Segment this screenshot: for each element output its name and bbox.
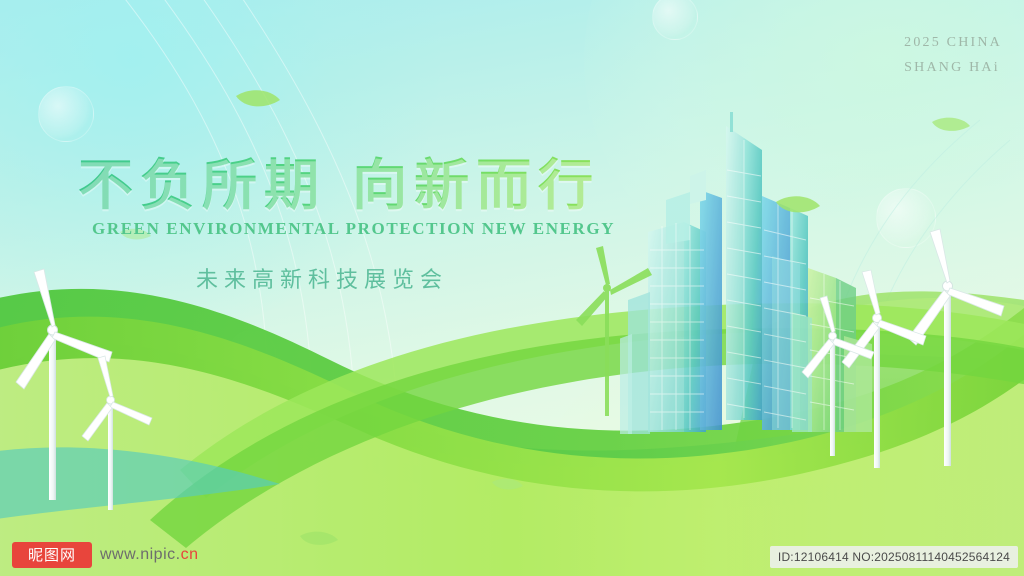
poster-canvas: 2025 CHINA SHANG HAi 不负所期 向新而行 GREEN ENV… — [0, 0, 1024, 576]
poster-subtitle-english: GREEN ENVIRONMENTAL PROTECTION NEW ENERG… — [92, 219, 615, 239]
watermark-logo: 昵图网 — [12, 542, 92, 568]
corner-location-text: 2025 CHINA SHANG HAi — [904, 30, 1002, 80]
artwork-layer — [0, 0, 1024, 576]
watermark-url-ascii: www.nipic. — [100, 546, 181, 563]
watermark: 昵图网 www.nipic.cn — [12, 542, 198, 568]
image-id-chip: ID:12106414 NO:20250811140452564124 — [770, 546, 1018, 568]
watermark-url: www.nipic.cn — [100, 546, 198, 564]
corner-line-2: SHANG HAi — [904, 55, 1002, 80]
watermark-url-tld: cn — [181, 546, 199, 563]
poster-subtitle-chinese: 未来高新科技展览会 — [196, 262, 448, 294]
corner-line-1: 2025 CHINA — [904, 30, 1002, 55]
poster-headline: 不负所期 向新而行 — [78, 140, 600, 220]
